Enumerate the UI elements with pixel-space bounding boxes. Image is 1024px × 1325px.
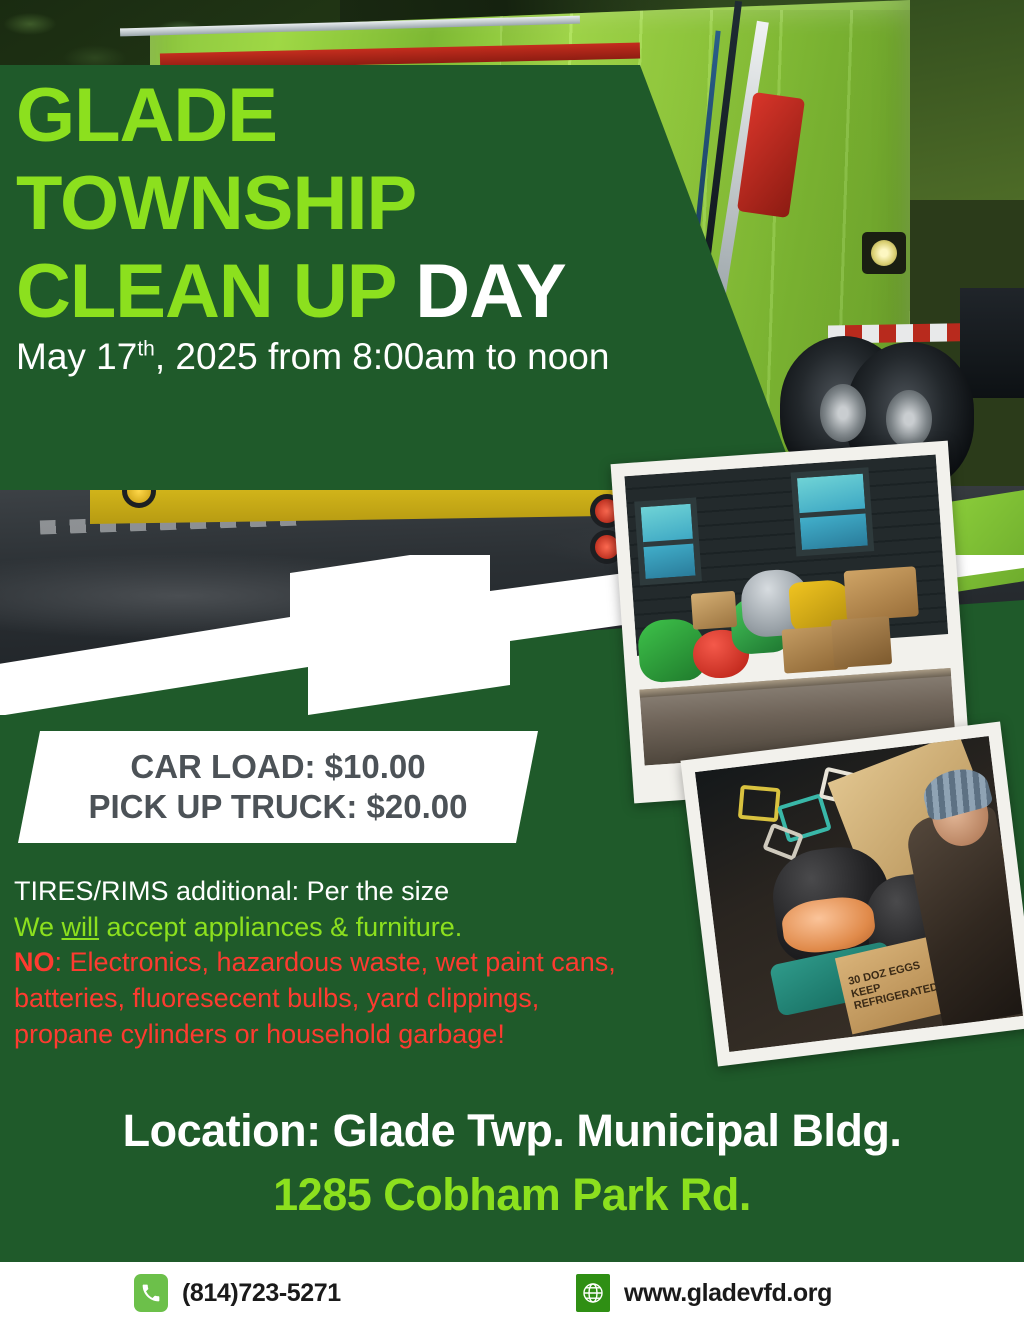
location-name: Location: Glade Twp. Municipal Bldg. <box>0 1105 1024 1157</box>
phone-icon <box>134 1274 168 1312</box>
price-car-load: CAR LOAD: $10.00 <box>130 747 425 787</box>
rule-no-line-2: batteries, fluoresecent bulbs, yard clip… <box>14 981 714 1017</box>
location-address: 1285 Cobham Park Rd. <box>0 1169 1024 1221</box>
photo-cardboard-box <box>691 591 737 630</box>
rules-list: TIRES/RIMS additional: Per the size We w… <box>14 874 714 1052</box>
title-cleanup-text: CLEAN UP <box>16 249 415 334</box>
title-line-cleanup-day: CLEAN UP DAY <box>16 254 776 330</box>
phone-number[interactable]: (814)723-5271 <box>182 1279 341 1308</box>
website-url[interactable]: www.gladevfd.org <box>624 1279 832 1308</box>
photo-cardboard-box <box>844 566 919 621</box>
rule-no-items-1: : Electronics, hazardous waste, wet pain… <box>55 947 616 977</box>
price-pickup-truck: PICK UP TRUCK: $20.00 <box>88 787 467 827</box>
event-date-time: May 17th, 2025 from 8:00am to noon <box>16 336 776 378</box>
pricing-banner: CAR LOAD: $10.00 PICK UP TRUCK: $20.00 <box>18 731 538 843</box>
photo-window <box>791 467 875 556</box>
date-ordinal-suffix: th <box>137 338 155 361</box>
truck-wheel-hub <box>820 384 866 442</box>
rule-tires-rims: TIRES/RIMS additional: Per the size <box>14 874 714 910</box>
location-block: Location: Glade Twp. Municipal Bldg. 128… <box>0 1105 1024 1221</box>
title-block: GLADE TOWNSHIP CLEAN UP DAY May 17th, 20… <box>16 78 776 378</box>
rule-no-label: NO <box>14 947 55 977</box>
title-day-text: DAY <box>415 249 565 334</box>
contact-website[interactable]: www.gladevfd.org <box>576 1274 832 1312</box>
title-line-glade: GLADE <box>16 78 776 154</box>
date-prefix: May 17 <box>16 336 137 377</box>
title-line-township: TOWNSHIP <box>16 166 776 242</box>
photo-cardboard-box <box>831 616 892 668</box>
truck-work-light <box>862 232 906 274</box>
rule-accept-prefix: We <box>14 912 62 942</box>
date-suffix: , 2025 from 8:00am to noon <box>155 336 610 377</box>
rule-accept-suffix: accept appliances & furniture. <box>99 912 462 942</box>
rule-no-line-1: NO: Electronics, hazardous waste, wet pa… <box>14 945 714 981</box>
photo-frame-item <box>738 785 781 822</box>
truck-wheel-hub <box>886 390 932 448</box>
contact-phone[interactable]: (814)723-5271 <box>134 1274 341 1312</box>
rule-no-line-3: propane cylinders or household garbage! <box>14 1017 714 1053</box>
globe-icon <box>576 1274 610 1312</box>
photo-person-loading: 30 DOZ EGGS KEEP REFRIGERATED <box>680 722 1024 1067</box>
rule-accept-emphasis: will <box>62 912 100 942</box>
footer-bar: (814)723-5271 www.gladevfd.org <box>0 1262 1024 1325</box>
rule-will-accept: We will accept appliances & furniture. <box>14 910 714 946</box>
truck-mudflap <box>960 288 1024 398</box>
photo-dumpster-full-image <box>624 455 955 766</box>
photo-person-loading-image: 30 DOZ EGGS KEEP REFRIGERATED <box>695 736 1023 1052</box>
flyer-root: GLADE TOWNSHIP CLEAN UP DAY May 17th, 20… <box>0 0 1024 1325</box>
